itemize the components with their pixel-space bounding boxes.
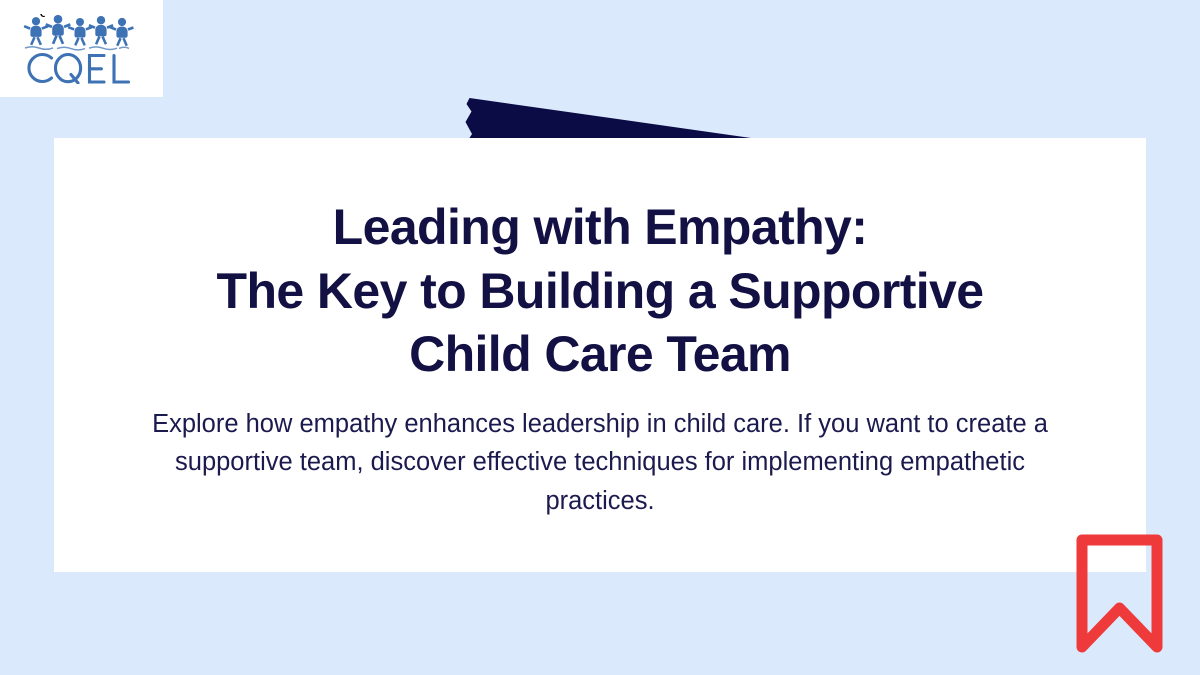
page-subtitle: Explore how empathy enhances leadership … [100, 405, 1100, 521]
logo-badge[interactable]: CQEL [0, 0, 163, 97]
headline-line-1: Leading with Empathy: [94, 196, 1106, 260]
cqel-wordmark-text: CQEL [23, 14, 67, 18]
content-card: Leading with Empathy: The Key to Buildin… [54, 138, 1146, 572]
bookmark-icon[interactable] [1073, 531, 1166, 656]
subtitle-line-1: Explore how empathy enhances leadership … [100, 405, 1100, 444]
page-title: Leading with Empathy: The Key to Buildin… [94, 196, 1106, 387]
people-chain-icon [23, 14, 133, 49]
subtitle-line-2: supportive team, discover effective tech… [100, 443, 1100, 482]
headline-line-2: The Key to Building a Supportive [94, 260, 1106, 324]
cqel-wordmark [28, 54, 128, 83]
subtitle-line-3: practices. [100, 482, 1100, 521]
headline-line-3: Child Care Team [94, 323, 1106, 387]
cqel-logo: CQEL [23, 14, 141, 84]
slide-canvas: { "theme": { "background_color": "#dbe9f… [0, 0, 1200, 675]
